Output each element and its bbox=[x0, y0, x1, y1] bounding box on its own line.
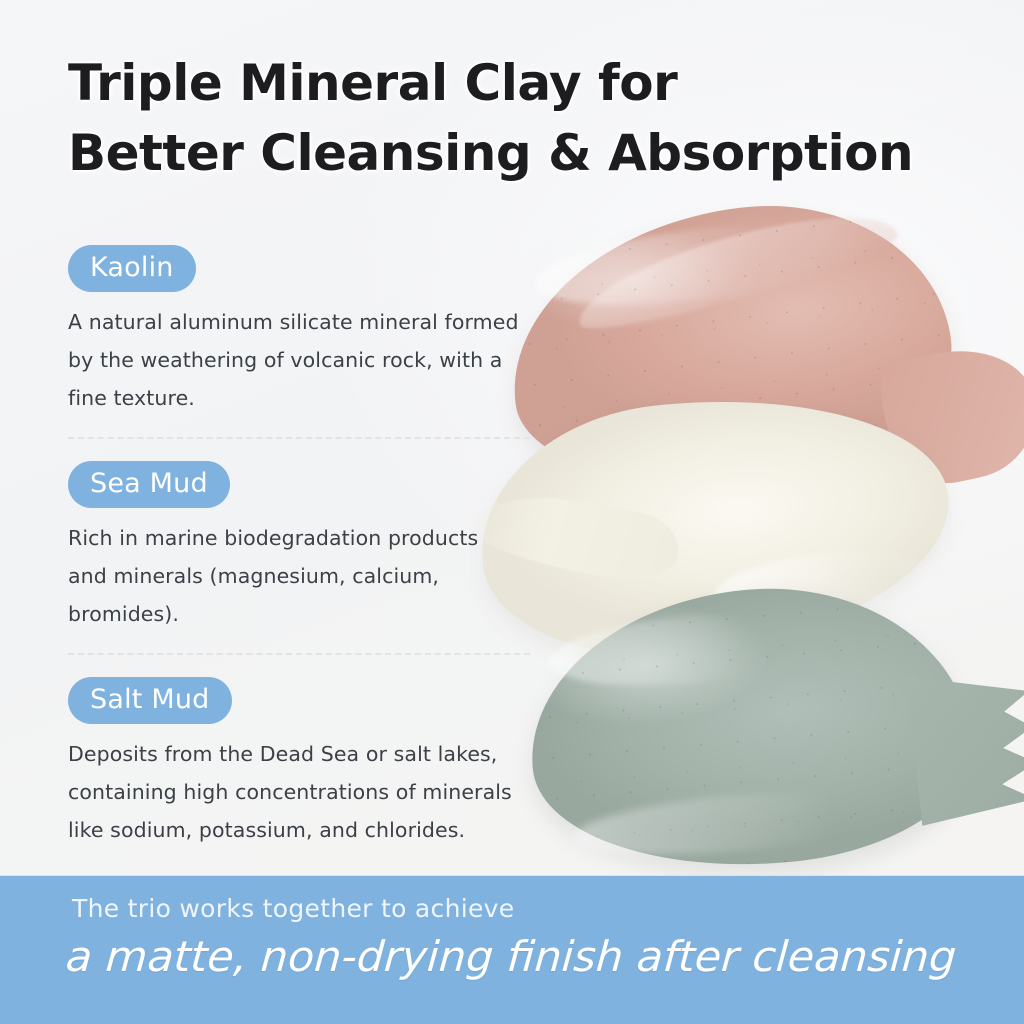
badge-sea-mud: Sea Mud bbox=[68, 461, 230, 508]
ingredient-section-sea-mud: Sea Mud Rich in marine biodegradation pr… bbox=[68, 439, 538, 653]
badge-kaolin: Kaolin bbox=[68, 245, 196, 292]
description-kaolin: A natural aluminum silicate mineral form… bbox=[68, 303, 523, 417]
clay-swatch-photo bbox=[470, 200, 1024, 880]
bottom-banner: The trio works together to achieve a mat… bbox=[0, 875, 1024, 1024]
badge-salt-mud: Salt Mud bbox=[68, 677, 232, 724]
description-salt-mud: Deposits from the Dead Sea or salt lakes… bbox=[68, 735, 523, 849]
green-clay-spiked-edge bbox=[906, 664, 1024, 826]
poster-canvas: Triple Mineral Clay for Better Cleansing… bbox=[0, 0, 1024, 1024]
ingredient-section-kaolin: Kaolin A natural aluminum silicate miner… bbox=[68, 245, 538, 437]
banner-highlight-text: a matte, non-drying finish after cleansi… bbox=[64, 928, 1024, 986]
ingredient-section-salt-mud: Salt Mud Deposits from the Dead Sea or s… bbox=[68, 655, 538, 849]
description-sea-mud: Rich in marine biodegradation products a… bbox=[68, 519, 523, 633]
ingredient-list: Kaolin A natural aluminum silicate miner… bbox=[68, 245, 538, 849]
page-title: Triple Mineral Clay for Better Cleansing… bbox=[68, 48, 988, 188]
pink-clay-highlight-ridge bbox=[568, 200, 902, 343]
banner-lead-text: The trio works together to achieve bbox=[72, 894, 514, 923]
